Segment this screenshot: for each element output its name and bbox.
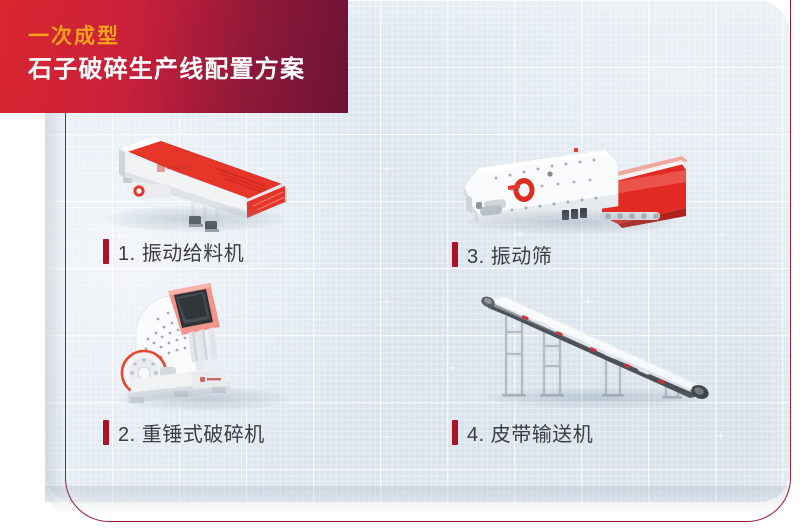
label-marker-bar — [452, 242, 458, 267]
hammer-crusher-svg — [112, 275, 292, 410]
label-text: 1. 振动给料机 — [118, 237, 244, 266]
belt-conveyor-svg — [470, 288, 720, 408]
machine-illustration-belt-conveyor — [470, 288, 720, 408]
label-belt-conveyor[interactable]: 4. 皮带输送机 — [452, 418, 593, 447]
label-vibrating-screen[interactable]: 3. 振动筛 — [452, 240, 552, 269]
vibrating-screen-svg — [450, 128, 690, 236]
banner-title: 一次成型 — [28, 26, 120, 47]
label-hammer-crusher[interactable]: 2. 重锤式破碎机 — [103, 418, 265, 447]
label-vibrating-feeder[interactable]: 1. 振动给料机 — [103, 237, 244, 266]
header-banner: 一次成型 石子破碎生产线配置方案 — [0, 0, 348, 113]
banner-subtitle: 石子破碎生产线配置方案 — [28, 58, 305, 82]
label-text: 3. 振动筛 — [467, 240, 552, 269]
label-marker-bar — [452, 420, 458, 445]
machine-illustration-vibrating-feeder — [95, 128, 295, 233]
label-text: 2. 重锤式破碎机 — [118, 418, 265, 447]
label-text: 4. 皮带输送机 — [467, 418, 593, 447]
machine-illustration-vibrating-screen — [450, 128, 690, 233]
label-marker-bar — [103, 239, 109, 264]
label-marker-bar — [103, 420, 109, 445]
infographic-canvas: 1. 振动给料机 — [0, 0, 800, 530]
vibrating-feeder-svg — [95, 128, 295, 233]
machine-illustration-hammer-crusher — [112, 275, 292, 410]
